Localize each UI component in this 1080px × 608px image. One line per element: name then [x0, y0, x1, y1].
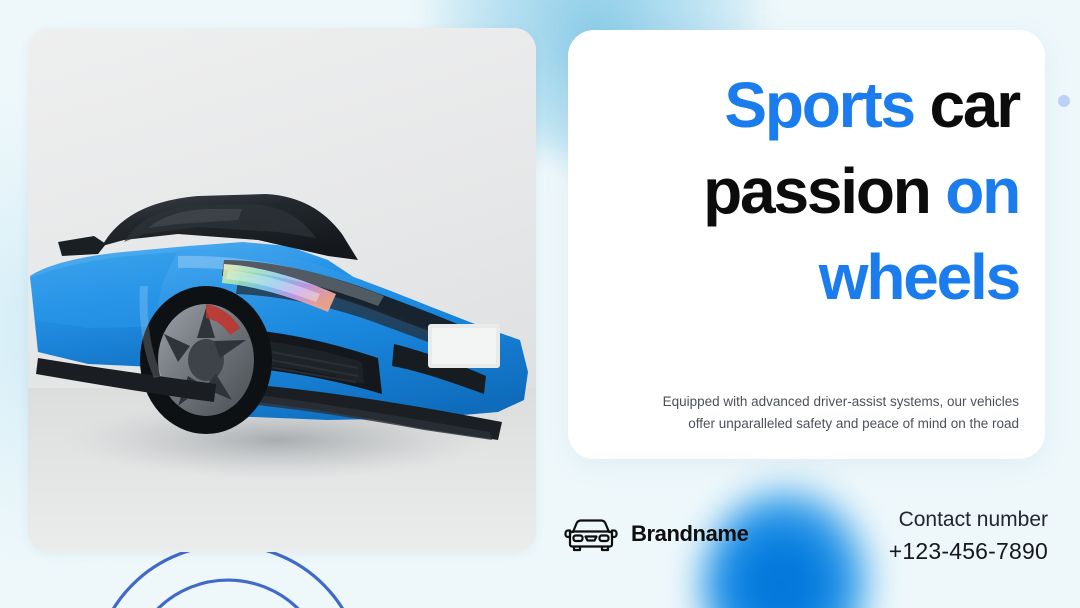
- headline-word-passion: passion: [703, 155, 929, 227]
- hero-car-photo: [28, 28, 536, 552]
- headline-word-sports: Sports: [724, 69, 914, 141]
- headline-word-wheels: wheels: [819, 241, 1019, 313]
- body-paragraph: Equipped with advanced driver-assist sys…: [656, 391, 1019, 435]
- content-card: Sports car passion on wheels Equipped wi…: [568, 30, 1045, 459]
- headline-line-1: Sports car: [594, 62, 1019, 148]
- right-edge-dot: [1058, 95, 1070, 107]
- brand-lockup[interactable]: Brandname: [563, 514, 748, 554]
- headline-line-2: passion on: [594, 148, 1019, 234]
- contact-block: Contact number +123-456-7890: [889, 505, 1048, 567]
- brand-name-label: Brandname: [631, 521, 748, 547]
- headline-word-car: car: [930, 69, 1020, 141]
- contact-label: Contact number: [889, 505, 1048, 535]
- poster-canvas: Sports car passion on wheels Equipped wi…: [0, 0, 1080, 608]
- headline-line-3: wheels: [594, 234, 1019, 320]
- car-front-icon: [563, 514, 619, 554]
- contact-number[interactable]: +123-456-7890: [889, 535, 1048, 567]
- headline-word-on: on: [945, 155, 1019, 227]
- page-title: Sports car passion on wheels: [594, 62, 1019, 320]
